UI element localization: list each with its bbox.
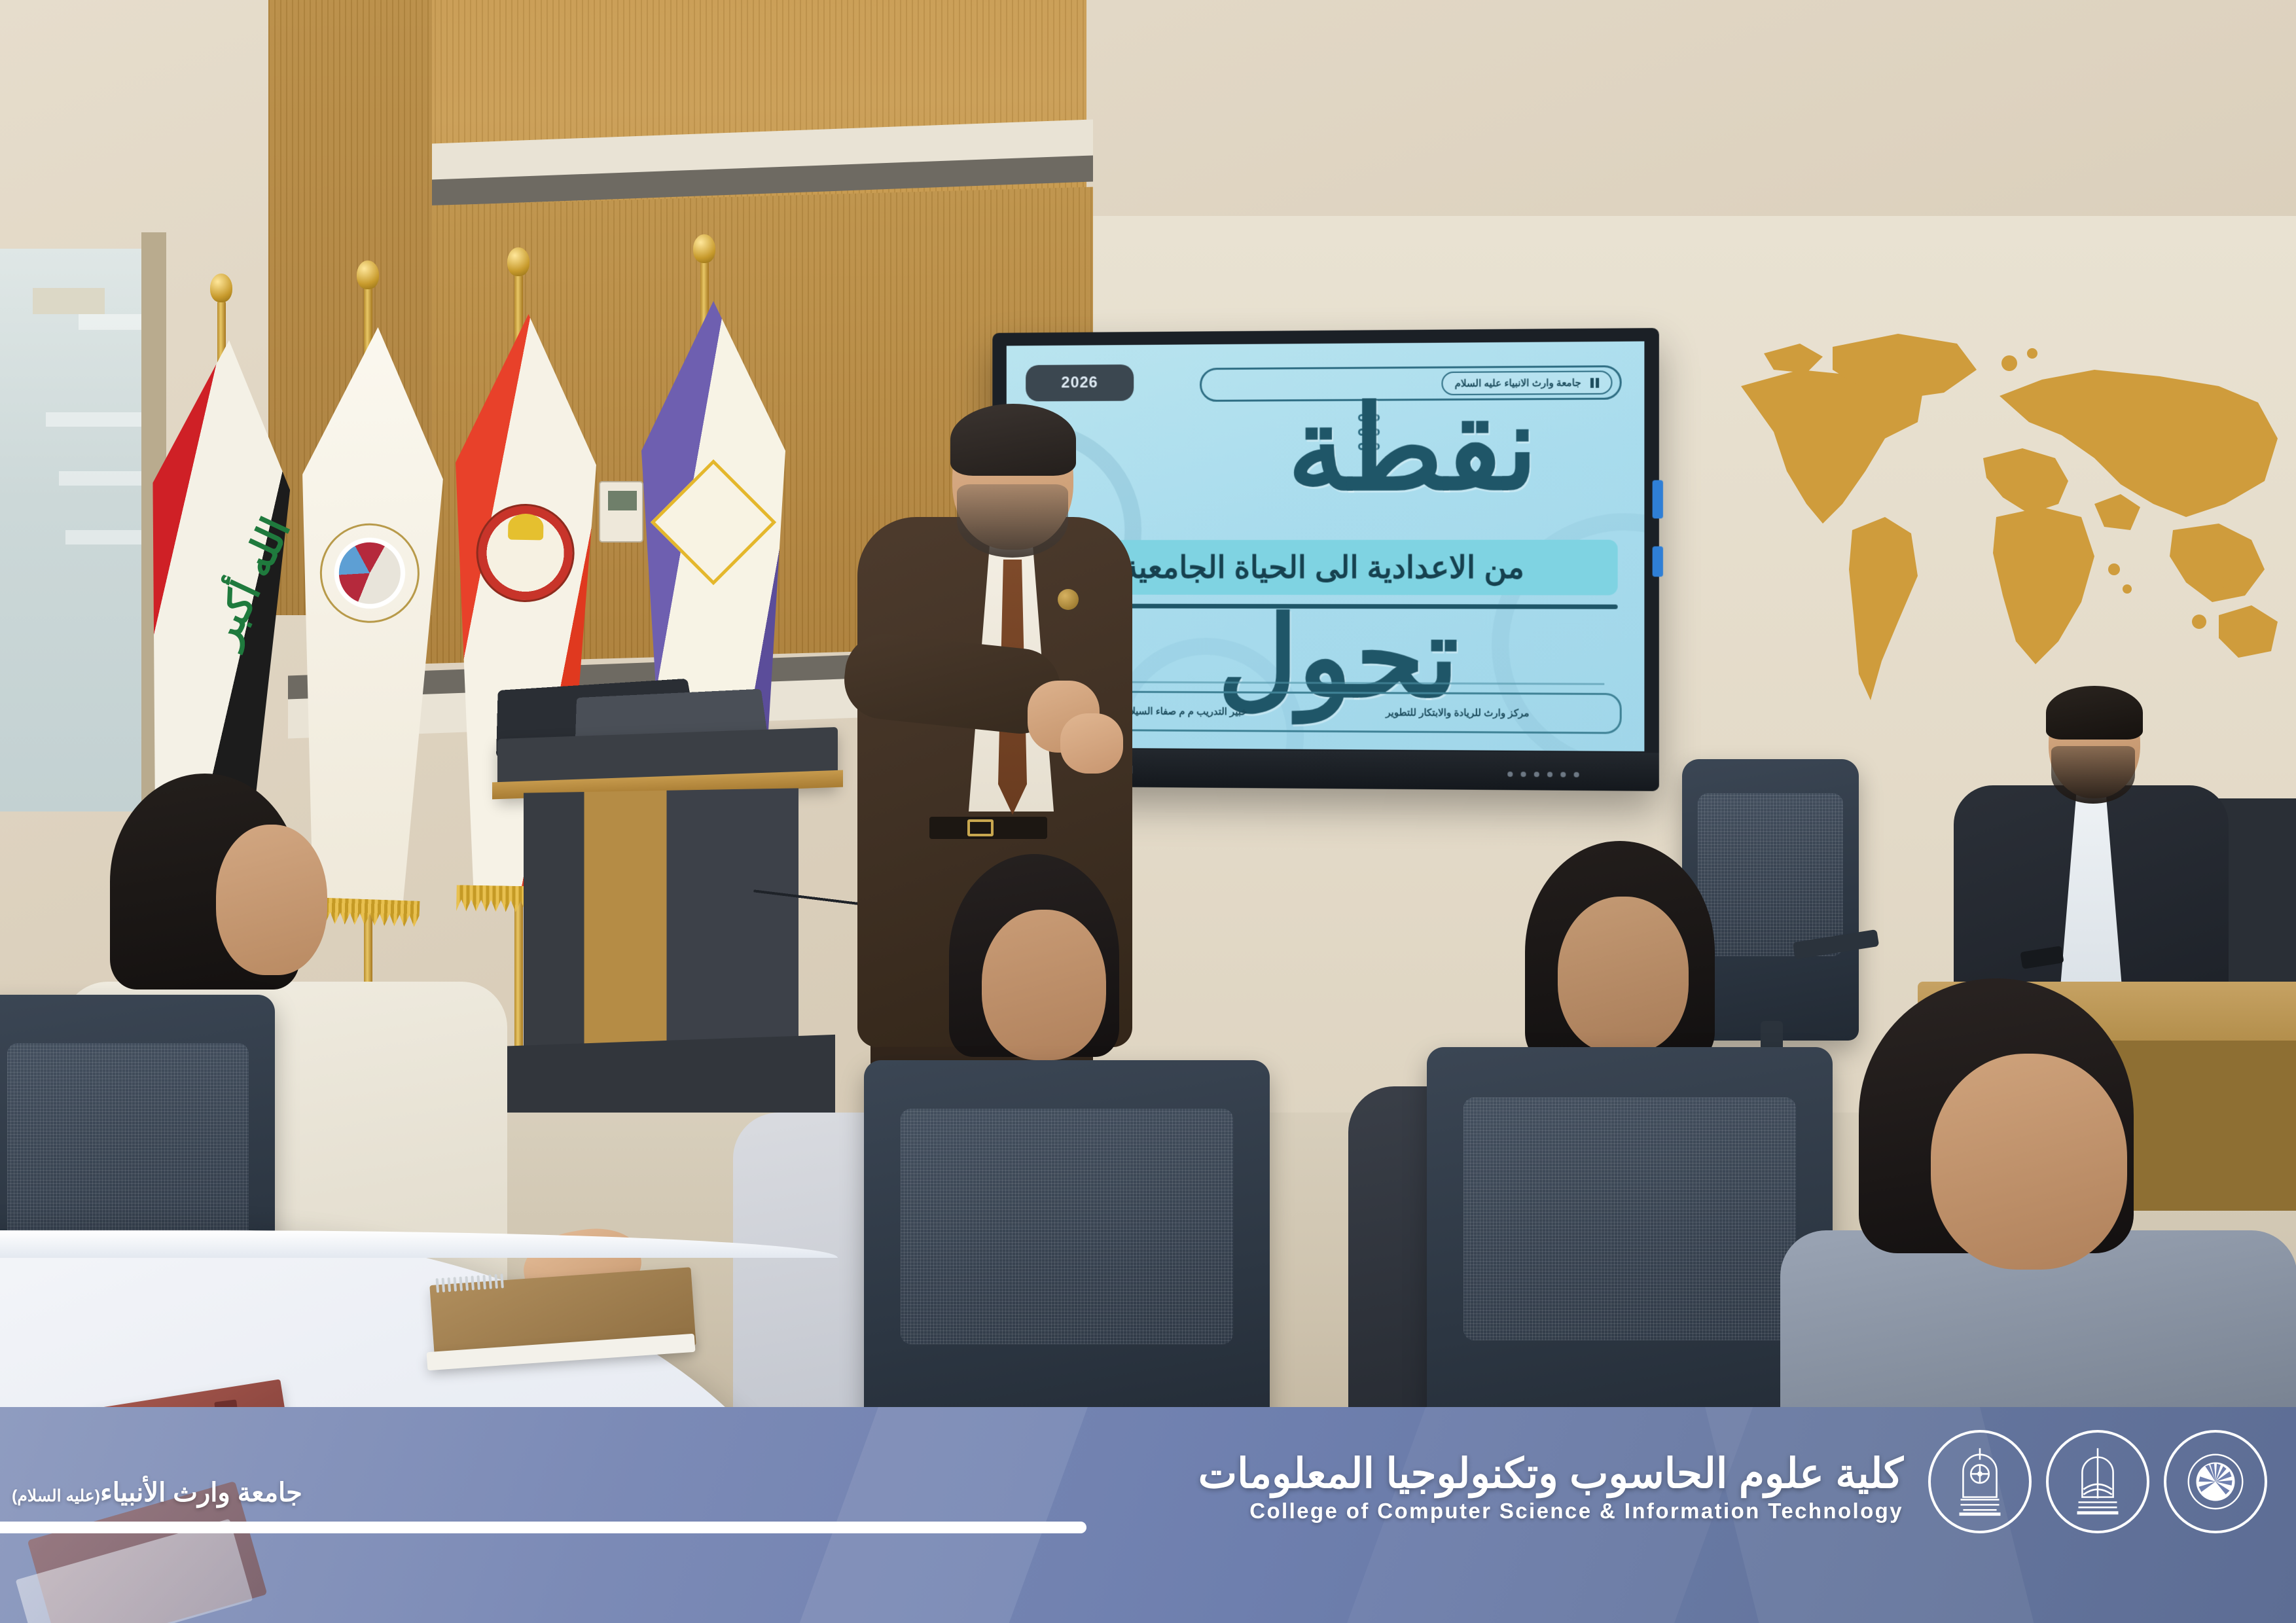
seated-speaker-hair xyxy=(2046,686,2143,740)
flagpole-finial xyxy=(210,274,232,302)
presenter-hair xyxy=(950,404,1076,476)
slide-footer-center: مركز وارث للريادة والابتكار للتطوير xyxy=(1386,706,1529,719)
glass-door xyxy=(0,249,151,811)
footer-decor-shape xyxy=(788,1407,1098,1623)
footer-college-block: كلية علوم الحاسوب وتكنولوجيا المعلومات C… xyxy=(1198,1452,1903,1524)
thermostat[interactable] xyxy=(599,481,643,543)
door-blind xyxy=(33,288,105,314)
footer-university-suffix: (عليه السلام) xyxy=(12,1487,100,1505)
flagpole-finial xyxy=(357,260,379,289)
footer-university-tag: جامعة وارث الأنبياء(عليه السلام) xyxy=(12,1478,302,1508)
audience-head xyxy=(216,825,327,975)
display-side-indicator xyxy=(1653,480,1663,519)
ministry-emblem-icon xyxy=(2177,1443,2254,1520)
footer-college-arabic: كلية علوم الحاسوب وتكنولوجيا المعلومات xyxy=(1198,1452,1903,1496)
footer-logo-row xyxy=(1928,1430,2267,1533)
college-of-computer-science-logo[interactable] xyxy=(1928,1430,2032,1533)
office-chair[interactable] xyxy=(1427,1047,1833,1446)
presenter-belt-buckle xyxy=(967,819,994,836)
presenter-hand xyxy=(1060,713,1123,774)
presenter-beard xyxy=(957,484,1068,558)
podium-base xyxy=(495,1035,835,1125)
shrine-dome-icon xyxy=(508,514,544,541)
event-photograph: جامعة وارث الانبياء عليه السلام 2026 نقط… xyxy=(0,0,2296,1446)
audience-head xyxy=(982,910,1106,1060)
quote-icon xyxy=(1590,378,1599,387)
office-chair[interactable] xyxy=(864,1060,1270,1446)
seated-speaker-beard xyxy=(2051,746,2135,804)
footer-college-english: College of Computer Science & Informatio… xyxy=(1198,1499,1903,1524)
ministry-of-higher-education-flag xyxy=(287,325,448,905)
university-of-warith-al-anbiyaa-logo[interactable] xyxy=(2046,1430,2149,1533)
slide-subtitle-text: من الاعدادية الى الحياة الجامعية xyxy=(1122,549,1524,586)
presenter-lapel-pin xyxy=(1058,589,1079,610)
college-emblem-icon xyxy=(1941,1443,2018,1520)
flagpole-finial xyxy=(693,234,715,263)
audience-head xyxy=(1931,1054,2127,1270)
footer-university-name: جامعة وارث الأنبياء xyxy=(100,1478,302,1507)
slide-footer-presenter: خبير التدريب م م صفاء السيلاوي xyxy=(1118,705,1247,717)
display-control-buttons[interactable] xyxy=(1507,772,1579,777)
slide-year-text: 2026 xyxy=(1061,374,1098,392)
ministry-of-higher-education-logo[interactable] xyxy=(2164,1430,2267,1533)
screenshot-stage: جامعة وارث الانبياء عليه السلام 2026 نقط… xyxy=(0,0,2296,1623)
ministry-seal-emblem xyxy=(338,541,402,605)
world-map-decal xyxy=(1702,308,2291,753)
display-side-indicator xyxy=(1653,546,1663,577)
university-emblem-icon xyxy=(2059,1443,2136,1520)
footer-rule xyxy=(0,1522,1086,1533)
audience-head xyxy=(1558,897,1689,1054)
slide-title-line1: نقطة xyxy=(1287,389,1538,507)
podium-body xyxy=(524,788,798,1048)
flagpole-finial xyxy=(507,247,529,276)
slide-year-badge: 2026 xyxy=(1026,365,1134,402)
